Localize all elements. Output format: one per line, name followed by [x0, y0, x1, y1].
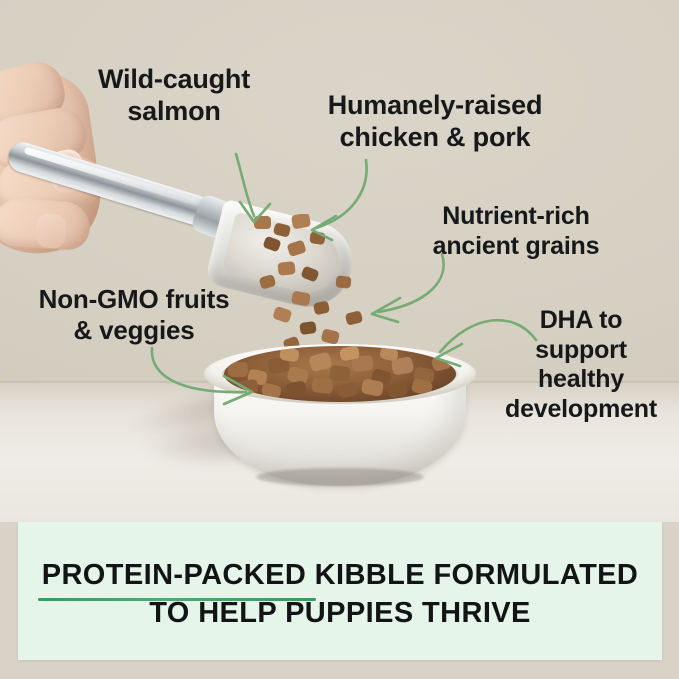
- kibble-heap: [224, 346, 456, 402]
- callout-salmon: Wild-caught salmon: [68, 64, 280, 128]
- callout-dha: DHA to support healthy development: [488, 306, 674, 424]
- callout-dha-line1: DHA to: [488, 306, 674, 336]
- headline-banner: PROTEIN-PACKED KIBBLE FORMULATED TO HELP…: [18, 522, 662, 660]
- infographic-stage: Wild-caught salmon Humanely-raised chick…: [0, 0, 679, 679]
- headline-line1: PROTEIN-PACKED KIBBLE FORMULATED: [18, 556, 662, 594]
- chicken-arrow: [300, 158, 400, 244]
- callout-nongmo: Non-GMO fruits & veggies: [6, 284, 262, 345]
- callout-chicken-line2: chicken & pork: [300, 122, 570, 154]
- callout-salmon-line1: Wild-caught: [68, 64, 280, 96]
- callout-dha-line4: development: [488, 395, 674, 425]
- callout-dha-line3: healthy: [488, 365, 674, 395]
- callout-salmon-line2: salmon: [68, 96, 280, 128]
- callout-chicken-line1: Humanely-raised: [300, 90, 570, 122]
- bowl-base-contact-shadow: [256, 468, 424, 486]
- callout-dha-line2: support: [488, 336, 674, 366]
- headline-text: PROTEIN-PACKED KIBBLE FORMULATED TO HELP…: [18, 556, 662, 633]
- headline-line1-rest: KIBBLE FORMULATED: [306, 559, 638, 591]
- salmon-arrow: [222, 152, 292, 228]
- kibble-pieces: [224, 346, 456, 402]
- callout-grains: Nutrient-rich ancient grains: [405, 202, 627, 261]
- product-photo: Wild-caught salmon Humanely-raised chick…: [0, 0, 679, 522]
- callout-grains-line2: ancient grains: [405, 232, 627, 262]
- callout-nongmo-line1: Non-GMO fruits: [6, 284, 262, 315]
- callout-grains-line1: Nutrient-rich: [405, 202, 627, 232]
- nongmo-arrow: [148, 346, 258, 408]
- callout-chicken: Humanely-raised chicken & pork: [300, 90, 570, 154]
- callout-nongmo-line2: & veggies: [6, 315, 262, 346]
- headline-underlined-phrase: PROTEIN-PACKED: [42, 556, 306, 594]
